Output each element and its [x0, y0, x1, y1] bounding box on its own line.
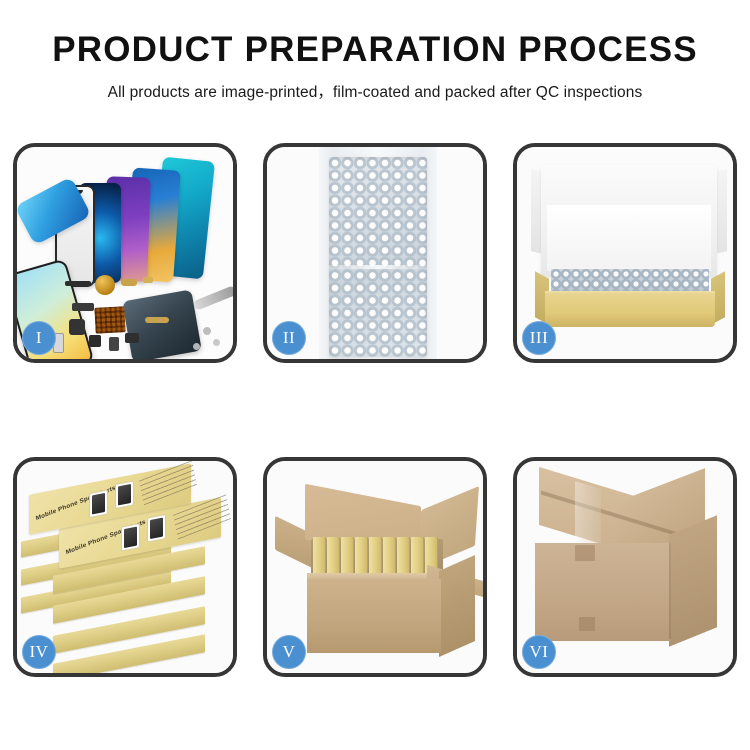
foam-sheet-icon [547, 205, 711, 271]
phone-teardown-board-icon [122, 289, 202, 359]
bubble-wrap-icon [329, 157, 427, 357]
vibration-motor-icon [95, 275, 115, 295]
carton-edge-icon [669, 543, 671, 639]
step-badge-1: I [22, 321, 56, 355]
screen-photo-icon [121, 523, 140, 552]
speaker-icon [89, 335, 101, 347]
step-frame: V [263, 457, 487, 677]
screen-photo-icon [147, 514, 166, 543]
carton-tape-icon [575, 481, 601, 551]
step-card-2[interactable]: II [263, 143, 487, 363]
ribbon-cable-icon [145, 317, 169, 323]
step-badge-6: VI [522, 635, 556, 669]
step-frame: III [513, 143, 737, 363]
product-preparation-infographic: PRODUCT PREPARATION PROCESS All products… [0, 0, 750, 750]
step-card-1[interactable]: I [13, 143, 237, 363]
page-subtitle: All products are image-printed，film-coat… [0, 80, 750, 102]
screw-icon [203, 327, 211, 335]
step-frame: VI [513, 457, 737, 677]
small-connector-icon [143, 277, 153, 283]
step-badge-3: III [522, 321, 556, 355]
carton-handle-tab-icon [575, 545, 595, 561]
carton-front-icon [535, 543, 671, 641]
carton-handle-tab-icon [579, 617, 595, 631]
step-badge-4: IV [22, 635, 56, 669]
earpiece-mesh-icon [65, 281, 91, 286]
carton-side-icon [439, 555, 475, 657]
flex-cable-icon [121, 279, 137, 286]
sleeve-seam-icon [329, 265, 427, 269]
step-card-3[interactable]: III [513, 143, 737, 363]
step-badge-5: V [272, 635, 306, 669]
tweezers-icon [193, 285, 233, 311]
connector-grid-icon [94, 306, 125, 334]
screen-photo-icon [89, 489, 108, 518]
screw-icon [213, 339, 220, 346]
step-card-4[interactable]: Mobile Phone Spare Parts Mobile Phone Sp… [13, 457, 237, 677]
header: PRODUCT PREPARATION PROCESS All products… [0, 32, 750, 102]
carton-side-icon [669, 515, 717, 646]
page-title: PRODUCT PREPARATION PROCESS [0, 32, 750, 67]
button-module-icon [125, 333, 139, 343]
box-spec-lines-icon [139, 461, 197, 505]
screw-icon [193, 343, 200, 350]
screen-photo-icon [115, 480, 134, 509]
box-front-icon [545, 295, 715, 327]
chip-icon [69, 319, 85, 335]
steps-grid: I II [13, 143, 737, 678]
sensor-icon [109, 337, 119, 351]
step-frame: II [263, 143, 487, 363]
step-card-6[interactable]: VI [513, 457, 737, 677]
camera-module-icon [72, 303, 94, 311]
carton-front-icon [307, 579, 441, 653]
step-badge-2: II [272, 321, 306, 355]
step-frame: I [13, 143, 237, 363]
step-frame: Mobile Phone Spare Parts Mobile Phone Sp… [13, 457, 237, 677]
step-card-5[interactable]: V [263, 457, 487, 677]
